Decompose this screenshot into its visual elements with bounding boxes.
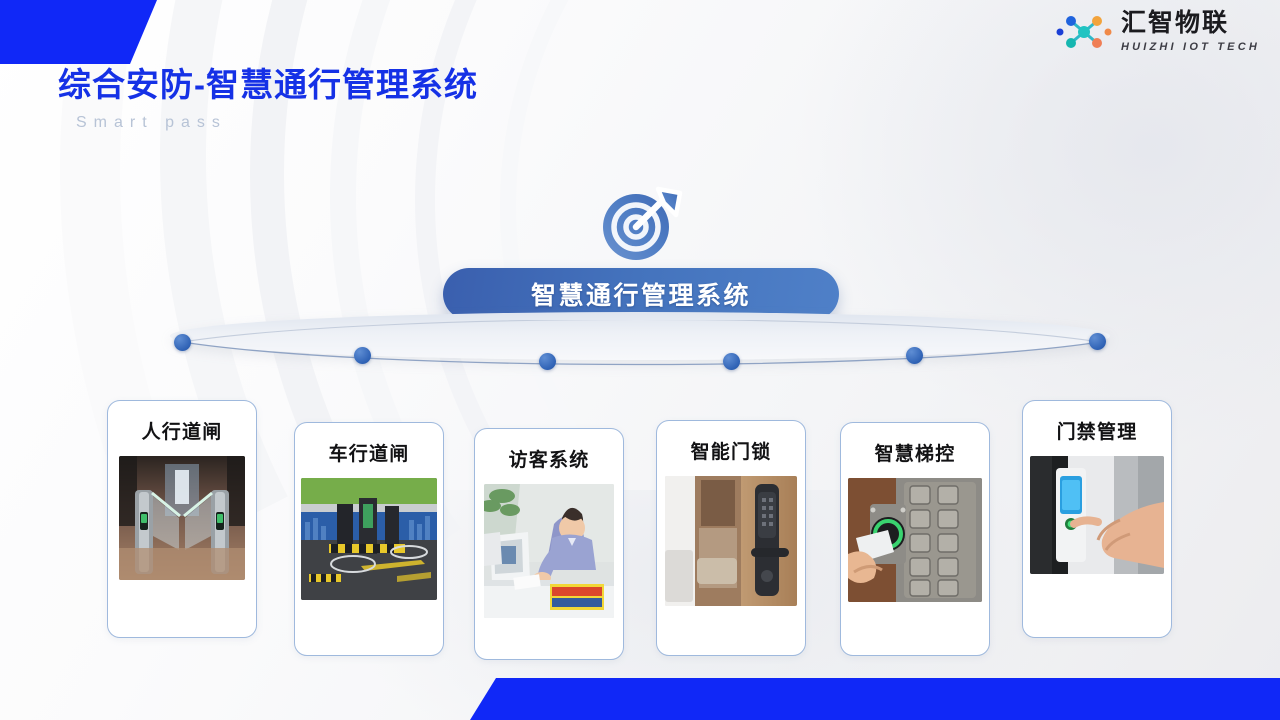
bottom-right-accent-shape (470, 678, 1280, 720)
feature-card-elevator-control[interactable]: 智慧梯控 (840, 422, 990, 656)
brand-logo: 汇智物联 HUIZHI IOT TECH (1056, 10, 1260, 54)
smart-door-lock-photo (665, 476, 797, 606)
feature-card-smart-lock[interactable]: 智能门锁 (656, 420, 806, 656)
connector-node (723, 353, 740, 370)
vehicle-barrier-gate-photo (301, 478, 437, 600)
elevator-card-reader-photo (848, 478, 982, 602)
feature-card-title: 车行道闸 (329, 439, 410, 466)
connector-node (906, 347, 923, 364)
pedestrian-turnstile-photo (119, 456, 245, 580)
visitor-reception-photo (484, 484, 614, 618)
connector-node (174, 334, 191, 351)
access-control-terminal-photo (1030, 456, 1164, 574)
feature-card-visitor-system[interactable]: 访客系统 (474, 428, 624, 660)
connector-node (1089, 333, 1106, 350)
feature-card-title: 智慧梯控 (875, 439, 956, 466)
slide-canvas: 综合安防-智慧通行管理系统 Smart pass 汇智物联 HUIZHI IOT… (0, 0, 1280, 720)
target-dart-icon (596, 185, 684, 263)
connector-node (539, 353, 556, 370)
brand-name-cn: 汇智物联 (1121, 11, 1260, 36)
top-left-accent-shape (0, 0, 175, 64)
page-subtitle: Smart pass (76, 114, 478, 132)
feature-card-title: 门禁管理 (1057, 417, 1138, 444)
molecule-network-icon (1056, 10, 1112, 54)
brand-text: 汇智物联 HUIZHI IOT TECH (1121, 11, 1260, 53)
feature-card-access-control[interactable]: 门禁管理 (1022, 400, 1172, 638)
feature-card-title: 人行道闸 (142, 417, 223, 444)
slide-header: 综合安防-智慧通行管理系统 Smart pass (58, 66, 478, 132)
feature-card-vehicle-gate[interactable]: 车行道闸 (294, 422, 444, 656)
connector-line (160, 320, 1120, 380)
brand-name-en: HUIZHI IOT TECH (1121, 42, 1260, 53)
page-title: 综合安防-智慧通行管理系统 (58, 66, 478, 104)
feature-card-title: 访客系统 (509, 445, 590, 472)
feature-card-title: 智能门锁 (691, 437, 772, 464)
feature-card-pedestrian-gate[interactable]: 人行道闸 (107, 400, 257, 638)
connector-node (354, 347, 371, 364)
system-title-label: 智慧通行管理系统 (531, 276, 751, 312)
